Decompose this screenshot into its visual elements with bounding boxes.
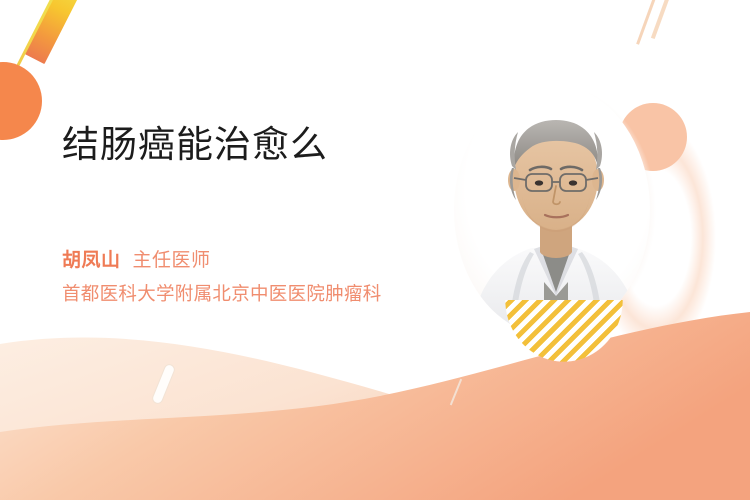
peach-diagonal-line-icon xyxy=(651,0,673,39)
doctor-portrait xyxy=(452,82,680,370)
doctor-affiliation: 首都医科大学附属北京中医医院肿瘤科 xyxy=(62,281,392,307)
doctor-name: 胡凤山 xyxy=(62,250,121,271)
diagonal-gradient-band-icon xyxy=(25,0,85,64)
page-title: 结肠癌能治愈么 xyxy=(62,114,328,168)
doctor-rank: 主任医师 xyxy=(133,250,211,271)
portrait-figure xyxy=(452,82,664,346)
doctor-video-cover-card: 结肠癌能治愈么 胡凤山主任医师 首都医科大学附属北京中医医院肿瘤科 xyxy=(0,0,750,500)
doctor-info-block: 胡凤山主任医师 首都医科大学附属北京中医医院肿瘤科 xyxy=(62,247,402,307)
peach-diagonal-line-icon xyxy=(636,0,659,45)
orange-circle-icon xyxy=(0,62,42,140)
doctor-name-row: 胡凤山主任医师 xyxy=(62,247,402,275)
thin-yellow-diagonal-line-icon xyxy=(14,0,61,71)
